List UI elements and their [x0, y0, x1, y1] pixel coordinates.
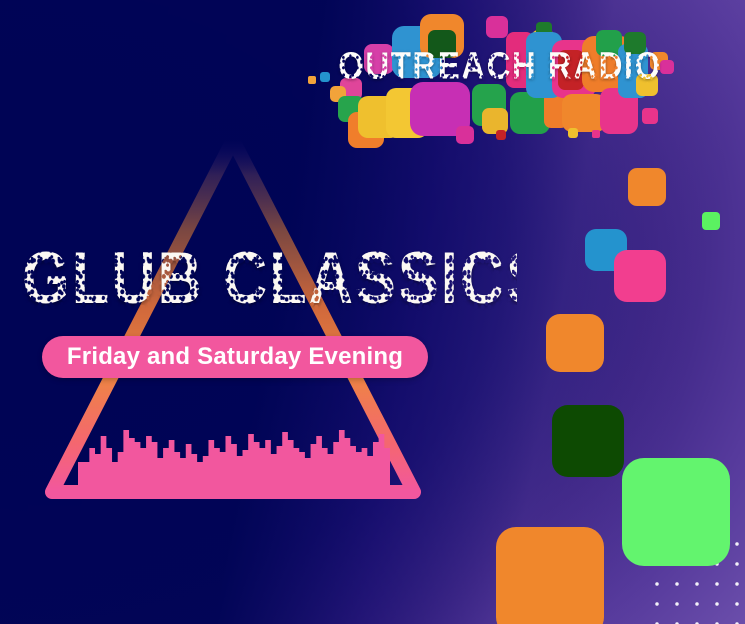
- logo-mosaic-tile: [642, 108, 658, 124]
- logo-mosaic-tile: [456, 126, 474, 144]
- schedule-badge-label: Friday and Saturday Evening: [67, 343, 403, 371]
- logo-mosaic-tile: [568, 128, 578, 138]
- square-green-small: [702, 212, 720, 230]
- logo-mosaic-tile: [496, 130, 506, 140]
- logo-mosaic-tile: [486, 16, 508, 38]
- square-brightgreen: [622, 458, 730, 566]
- page-title: GLUB CLASSICS: [22, 243, 517, 316]
- skyline-path: [78, 430, 390, 492]
- logo-mosaic-tile: [592, 130, 600, 138]
- brand-name: OUTREACH RADIO: [300, 44, 700, 88]
- poster-canvas: GLUB CLASSICS Friday and Saturday Evenin…: [0, 0, 745, 624]
- square-pink: [614, 250, 666, 302]
- square-orange-mid: [546, 314, 604, 372]
- brand-logo: OUTREACH RADIO: [300, 4, 700, 149]
- schedule-badge: Friday and Saturday Evening: [42, 336, 428, 378]
- square-darkgreen: [552, 405, 624, 477]
- square-orange-bottom: [496, 527, 604, 624]
- square-orange-top: [628, 168, 666, 206]
- city-skyline-silhouette: [78, 420, 390, 492]
